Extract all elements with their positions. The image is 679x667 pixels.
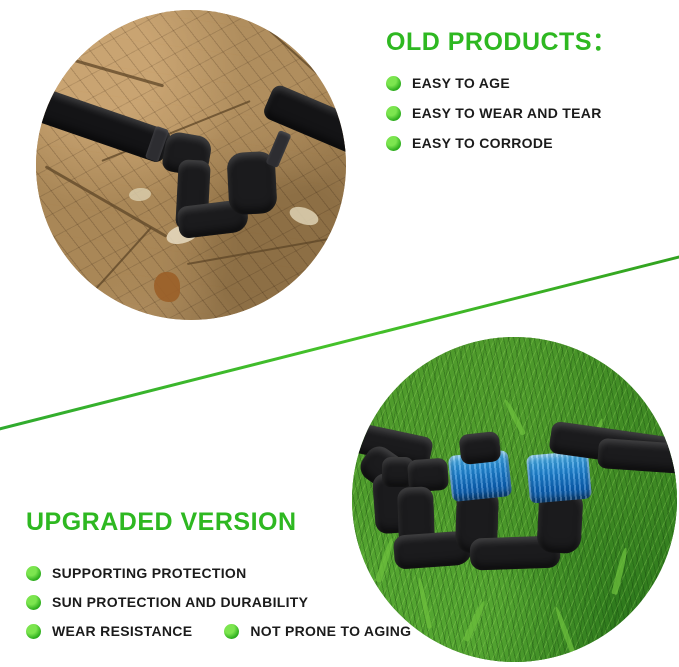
bullet-dot-icon [26, 595, 41, 610]
list-item: EASY TO WEAR AND TEAR [386, 105, 602, 121]
black-pipe-stub [459, 431, 502, 465]
old-products-heading: OLD PRODUCTS： [386, 22, 618, 58]
list-item: SUN PROTECTION AND DURABILITY [26, 594, 443, 610]
bullet-dot-icon [224, 624, 239, 639]
bullet-dot-icon [386, 106, 401, 121]
list-item-label: SUPPORTING PROTECTION [52, 565, 247, 581]
soil-stone [154, 272, 180, 302]
list-item: NOT PRONE TO AGING [224, 623, 411, 639]
list-item: SUPPORTING PROTECTION [26, 565, 443, 581]
bullet-dot-icon [386, 76, 401, 91]
list-item-label: EASY TO CORRODE [412, 135, 553, 151]
list-item-label: NOT PRONE TO AGING [250, 623, 411, 639]
bullet-dot-icon [386, 136, 401, 151]
list-item-label: EASY TO WEAR AND TEAR [412, 105, 602, 121]
old-product-photo [36, 10, 346, 320]
old-products-bullet-list: EASY TO AGE EASY TO WEAR AND TEAR EASY T… [386, 75, 602, 165]
list-item-row: WEAR RESISTANCE NOT PRONE TO AGING [26, 623, 443, 639]
blue-collar-right [526, 450, 592, 503]
list-item: WEAR RESISTANCE [26, 623, 192, 639]
comparison-infographic: OLD PRODUCTS： EASY TO AGE EASY TO WEAR A… [0, 0, 679, 667]
list-item: EASY TO AGE [386, 75, 602, 91]
list-item-label: EASY TO AGE [412, 75, 510, 91]
upgraded-version-bullet-list: SUPPORTING PROTECTION SUN PROTECTION AND… [26, 565, 443, 639]
upgraded-version-heading: UPGRADED VERSION [26, 508, 297, 537]
bullet-dot-icon [26, 624, 41, 639]
black-pipe-segment [597, 438, 677, 474]
list-item-label: SUN PROTECTION AND DURABILITY [52, 594, 308, 610]
list-item-label: WEAR RESISTANCE [52, 623, 192, 639]
bullet-dot-icon [26, 566, 41, 581]
list-item: EASY TO CORRODE [386, 135, 602, 151]
